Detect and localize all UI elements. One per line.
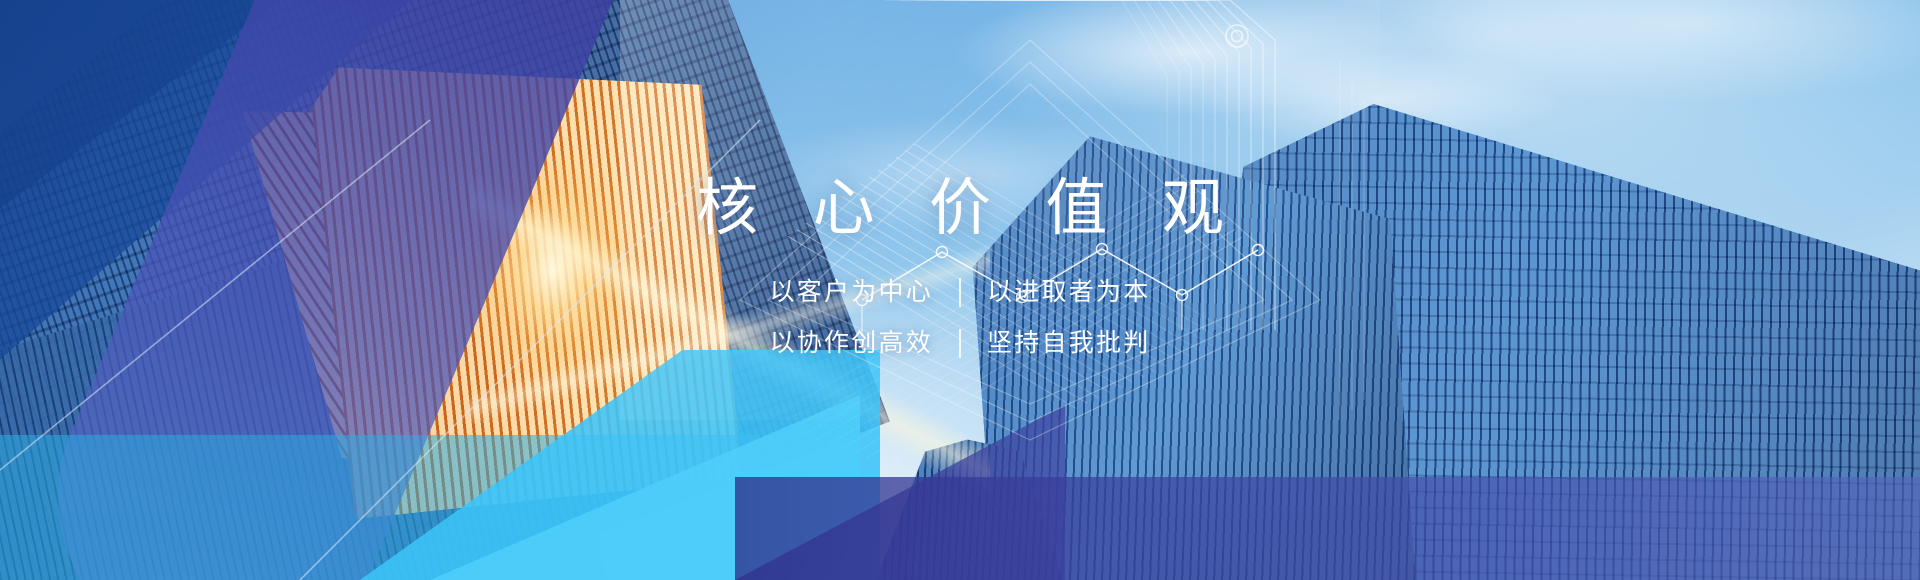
value-separator xyxy=(959,329,961,358)
banner-content: 核 心 价 值 观 以客户为中心 以进取者为本 以协作创高效 坚持自我批判 xyxy=(0,0,1920,580)
value-line-1: 以客户为中心 以进取者为本 xyxy=(769,278,1150,307)
value-1-left: 以客户为中心 xyxy=(769,279,933,305)
value-separator xyxy=(959,278,961,307)
page-title: 核 心 价 值 观 xyxy=(678,178,1243,240)
value-1-right: 以进取者为本 xyxy=(987,279,1151,305)
core-values-banner: 核 心 价 值 观 以客户为中心 以进取者为本 以协作创高效 坚持自我批判 xyxy=(0,0,1920,580)
value-line-2: 以协作创高效 坚持自我批判 xyxy=(769,329,1150,358)
value-2-right: 坚持自我批判 xyxy=(987,330,1151,356)
value-2-left: 以协作创高效 xyxy=(769,330,933,356)
